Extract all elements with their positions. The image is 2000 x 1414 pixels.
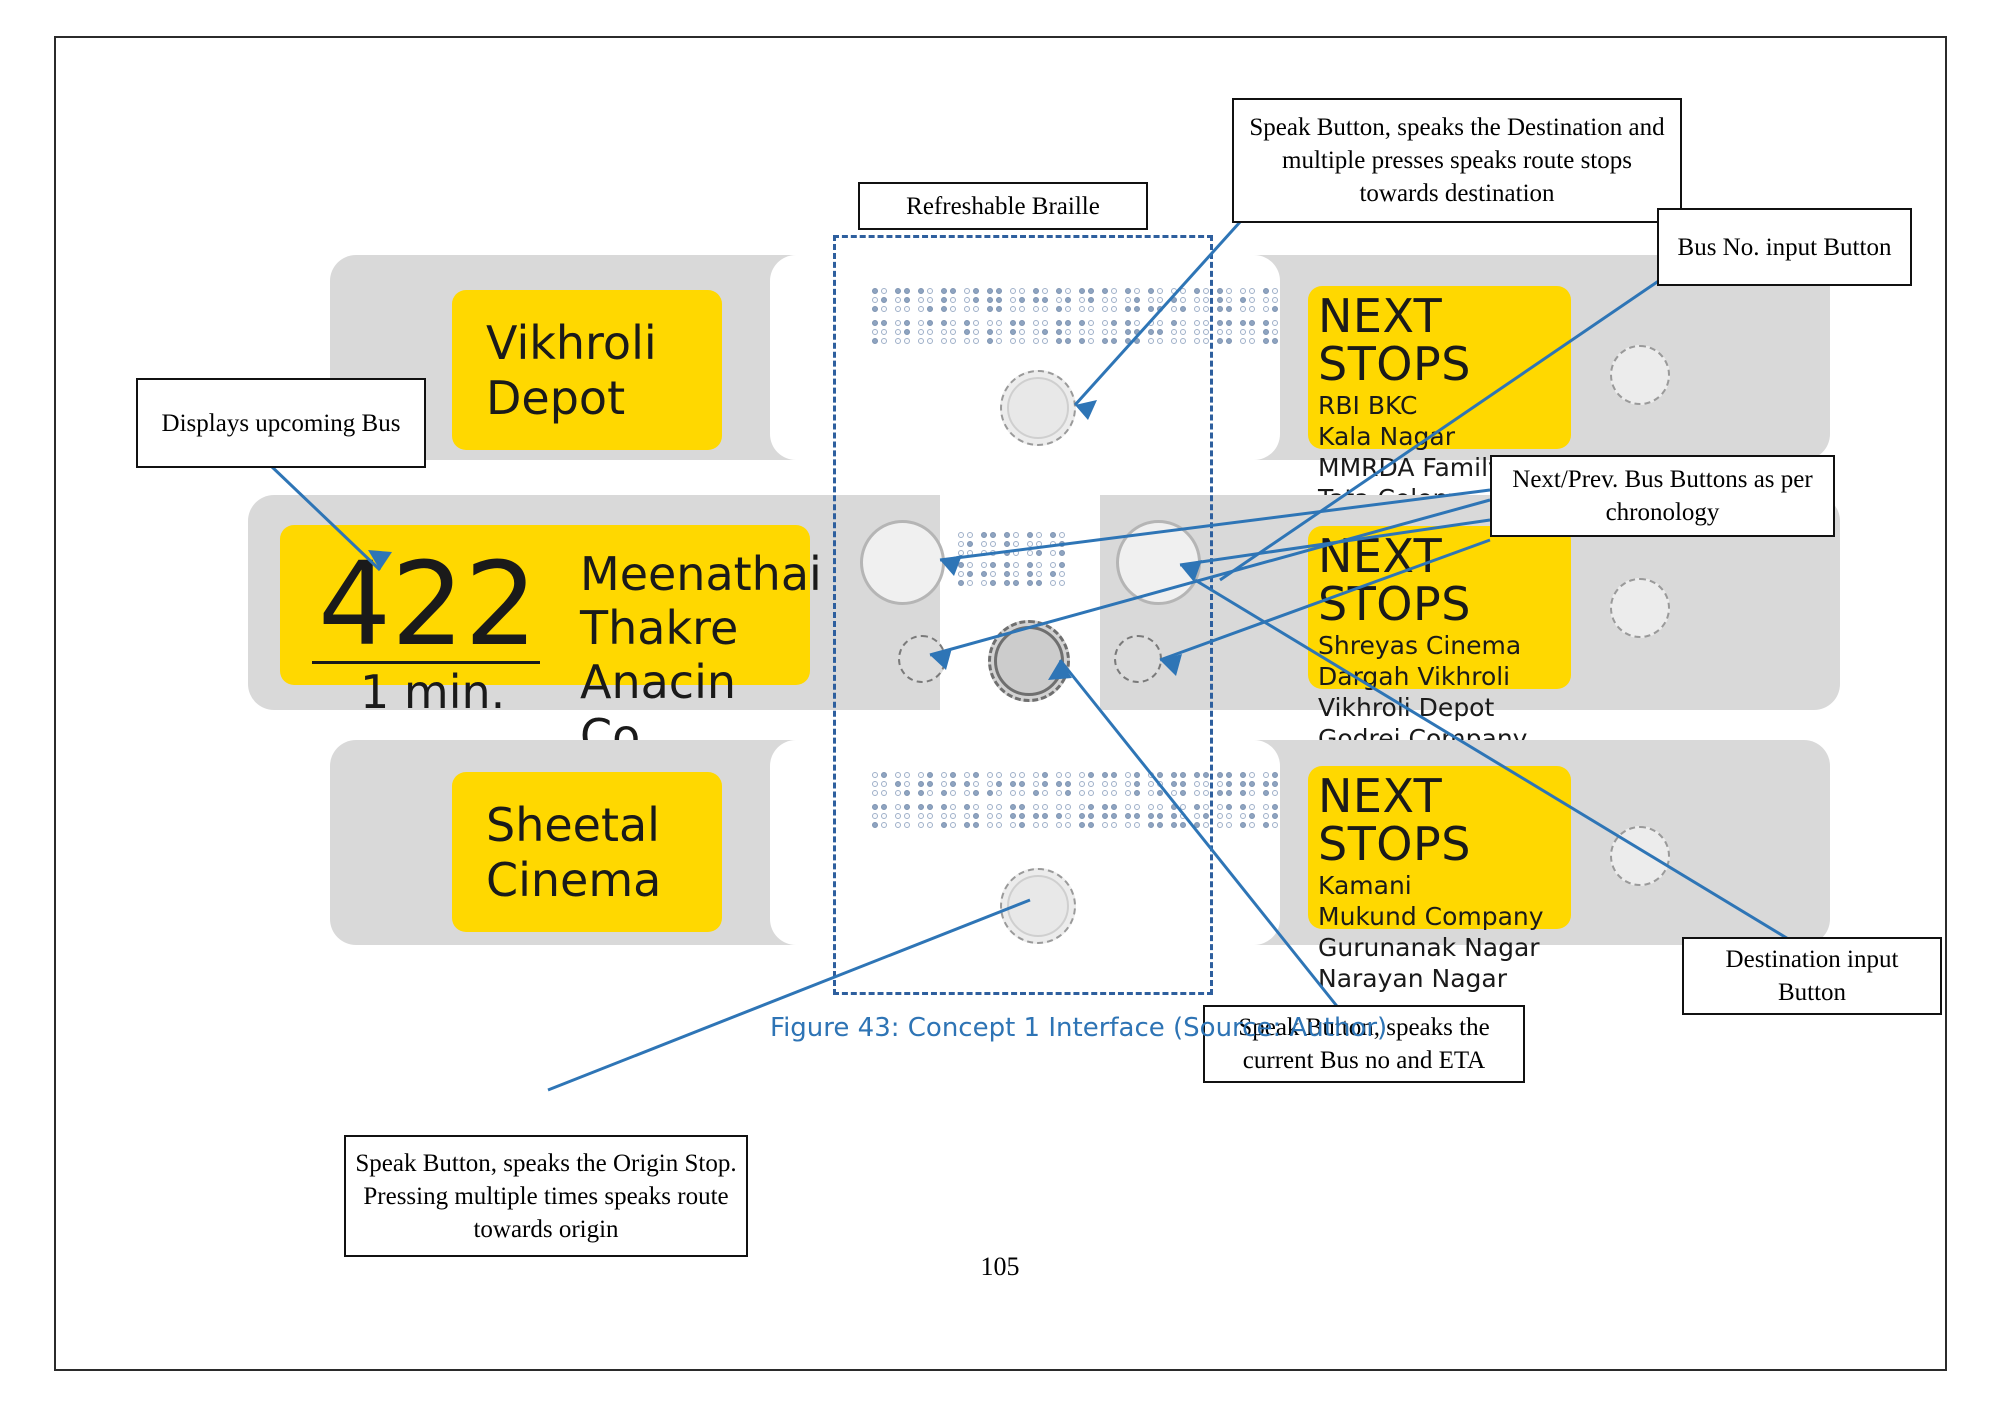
braille-dot-icon <box>1240 306 1246 312</box>
callout-destination-input: Destination input Button <box>1682 937 1942 1015</box>
braille-dot-icon <box>1249 306 1255 312</box>
braille-dot-icon <box>1272 288 1278 294</box>
next-stops-title-top: NEXT STOPS <box>1308 286 1571 388</box>
braille-dot-icon <box>1249 822 1255 828</box>
braille-dot-icon <box>1249 329 1255 335</box>
callout-next-prev-bus: Next/Prev. Bus Buttons as per chronology <box>1490 455 1835 537</box>
braille-dot-icon <box>1217 288 1223 294</box>
callout-destination-input-text: Destination input Button <box>1692 943 1932 1009</box>
braille-dot-icon <box>1240 338 1246 344</box>
braille-dot-icon <box>1263 338 1269 344</box>
braille-cell-icon <box>1217 320 1232 344</box>
braille-dot-icon <box>1272 338 1278 344</box>
braille-dot-icon <box>1240 813 1246 819</box>
braille-dot-icon <box>1272 297 1278 303</box>
next-stops-card-top: NEXT STOPS RBI BKC Kala Nagar MMRDA Fami… <box>1308 286 1571 449</box>
round-button-bottom-right[interactable] <box>1610 826 1670 886</box>
braille-dot-icon <box>1249 320 1255 326</box>
braille-dot-icon <box>1263 813 1269 819</box>
braille-dot-icon <box>1217 813 1223 819</box>
braille-dot-icon <box>1217 781 1223 787</box>
braille-cell-icon <box>1263 772 1278 796</box>
braille-dot-icon <box>1240 297 1246 303</box>
braille-dot-icon <box>1226 338 1232 344</box>
braille-cell-icon <box>1263 804 1278 828</box>
braille-dot-icon <box>1272 804 1278 810</box>
braille-dot-icon <box>1240 781 1246 787</box>
bus-info-card: 422 1 min. Meenathai Thakre Anacin Co. <box>280 525 810 685</box>
braille-dot-icon <box>1263 320 1269 326</box>
braille-dot-icon <box>1263 790 1269 796</box>
braille-dot-icon <box>1249 790 1255 796</box>
braille-dot-icon <box>1226 790 1232 796</box>
braille-dot-icon <box>1249 804 1255 810</box>
braille-dot-icon <box>1263 329 1269 335</box>
stop-name-top: Vikhroli Depot <box>452 290 722 426</box>
braille-dot-icon <box>1249 772 1255 778</box>
braille-dot-icon <box>1263 297 1269 303</box>
braille-cell-icon <box>1217 804 1232 828</box>
braille-cell-icon <box>1240 804 1255 828</box>
braille-dot-icon <box>1217 772 1223 778</box>
braille-dot-icon <box>1240 288 1246 294</box>
next-stops-card-middle: NEXT STOPS Shreyas Cinema Dargah Vikhrol… <box>1308 526 1571 689</box>
braille-dot-icon <box>1240 772 1246 778</box>
braille-dot-icon <box>1263 822 1269 828</box>
next-stops-list-middle: Shreyas Cinema Dargah Vikhroli Vikhroli … <box>1308 628 1571 754</box>
callout-speak-destination: Speak Button, speaks the Destination and… <box>1232 98 1682 223</box>
braille-dot-icon <box>1272 822 1278 828</box>
braille-dot-icon <box>1272 813 1278 819</box>
braille-dot-icon <box>1249 813 1255 819</box>
braille-dot-icon <box>1263 804 1269 810</box>
braille-dot-icon <box>1217 329 1223 335</box>
braille-cell-icon <box>1217 288 1232 312</box>
braille-dot-icon <box>1226 297 1232 303</box>
braille-dot-icon <box>1217 790 1223 796</box>
bus-number-rule <box>312 661 540 664</box>
next-stops-title-middle: NEXT STOPS <box>1308 526 1571 628</box>
bus-destination: Meenathai Thakre Anacin Co. <box>580 547 822 763</box>
refreshable-braille-region <box>833 235 1213 995</box>
braille-dot-icon <box>1263 288 1269 294</box>
braille-dot-icon <box>1226 772 1232 778</box>
braille-dot-icon <box>1226 320 1232 326</box>
braille-dot-icon <box>1217 297 1223 303</box>
stop-name-bottom: Sheetal Cinema <box>452 772 722 908</box>
figure-caption: Figure 43: Concept 1 Interface (Source: … <box>770 1013 1387 1043</box>
round-button-middle-right[interactable] <box>1610 578 1670 638</box>
callout-bus-no-input: Bus No. input Button <box>1657 208 1912 286</box>
braille-dot-icon <box>1226 804 1232 810</box>
bus-number: 422 <box>318 549 538 661</box>
callout-displays-upcoming-bus-text: Displays upcoming Bus <box>162 407 401 440</box>
next-stop-item: Kamani <box>1318 870 1571 901</box>
braille-dot-icon <box>1263 772 1269 778</box>
page-number: 105 <box>0 1252 2000 1282</box>
braille-dot-icon <box>1272 772 1278 778</box>
braille-cell-icon <box>1240 772 1255 796</box>
braille-dot-icon <box>1249 288 1255 294</box>
bus-eta: 1 min. <box>360 668 505 716</box>
braille-dot-icon <box>1272 781 1278 787</box>
callout-speak-origin: Speak Button, speaks the Origin Stop. Pr… <box>344 1135 748 1257</box>
callout-refreshable-braille-text: Refreshable Braille <box>906 190 1100 223</box>
braille-dot-icon <box>1217 320 1223 326</box>
braille-dot-icon <box>1226 813 1232 819</box>
next-stop-item: Gurunanak Nagar <box>1318 932 1571 963</box>
braille-dot-icon <box>1249 781 1255 787</box>
braille-dot-icon <box>1240 804 1246 810</box>
braille-cell-icon <box>1217 772 1232 796</box>
braille-dot-icon <box>1217 804 1223 810</box>
stop-name-card-top: Vikhroli Depot <box>452 290 722 450</box>
braille-dot-icon <box>1272 320 1278 326</box>
braille-dot-icon <box>1240 822 1246 828</box>
stop-name-card-bottom: Sheetal Cinema <box>452 772 722 932</box>
braille-dot-icon <box>1240 329 1246 335</box>
braille-dot-icon <box>1226 822 1232 828</box>
braille-dot-icon <box>1263 781 1269 787</box>
braille-dot-icon <box>1249 297 1255 303</box>
next-stop-item: Narayan Nagar <box>1318 963 1571 994</box>
next-stop-item: Vikhroli Depot <box>1318 692 1571 723</box>
callout-displays-upcoming-bus: Displays upcoming Bus <box>136 378 426 468</box>
braille-dot-icon <box>1272 306 1278 312</box>
braille-dot-icon <box>1240 790 1246 796</box>
braille-dot-icon <box>1226 306 1232 312</box>
next-stops-title-bottom: NEXT STOPS <box>1308 766 1571 868</box>
braille-dot-icon <box>1272 329 1278 335</box>
next-stops-card-bottom: NEXT STOPS Kamani Mukund Company Gurunan… <box>1308 766 1571 929</box>
callout-refreshable-braille: Refreshable Braille <box>858 182 1148 230</box>
braille-cell-icon <box>1263 288 1278 312</box>
next-stop-item: Mukund Company <box>1318 901 1571 932</box>
braille-cell-icon <box>1240 288 1255 312</box>
callout-speak-origin-text: Speak Button, speaks the Origin Stop. Pr… <box>354 1147 738 1246</box>
braille-dot-icon <box>1217 822 1223 828</box>
next-stop-item: Shreyas Cinema <box>1318 630 1571 661</box>
callout-speak-destination-text: Speak Button, speaks the Destination and… <box>1242 111 1672 210</box>
braille-dot-icon <box>1272 790 1278 796</box>
callout-bus-no-input-text: Bus No. input Button <box>1678 231 1892 264</box>
braille-dot-icon <box>1217 338 1223 344</box>
braille-dot-icon <box>1217 306 1223 312</box>
braille-dot-icon <box>1240 320 1246 326</box>
braille-cell-icon <box>1263 320 1278 344</box>
next-stop-item: Dargah Vikhroli <box>1318 661 1571 692</box>
next-stop-item: Kala Nagar <box>1318 421 1571 452</box>
callout-next-prev-bus-text: Next/Prev. Bus Buttons as per chronology <box>1500 463 1825 529</box>
braille-dot-icon <box>1263 306 1269 312</box>
braille-dot-icon <box>1249 338 1255 344</box>
braille-dot-icon <box>1226 288 1232 294</box>
bus-no-input-button-top[interactable] <box>1610 345 1670 405</box>
next-stop-item: RBI BKC <box>1318 390 1571 421</box>
braille-dot-icon <box>1226 781 1232 787</box>
braille-cell-icon <box>1240 320 1255 344</box>
next-stops-list-bottom: Kamani Mukund Company Gurunanak Nagar Na… <box>1308 868 1571 994</box>
braille-dot-icon <box>1226 329 1232 335</box>
